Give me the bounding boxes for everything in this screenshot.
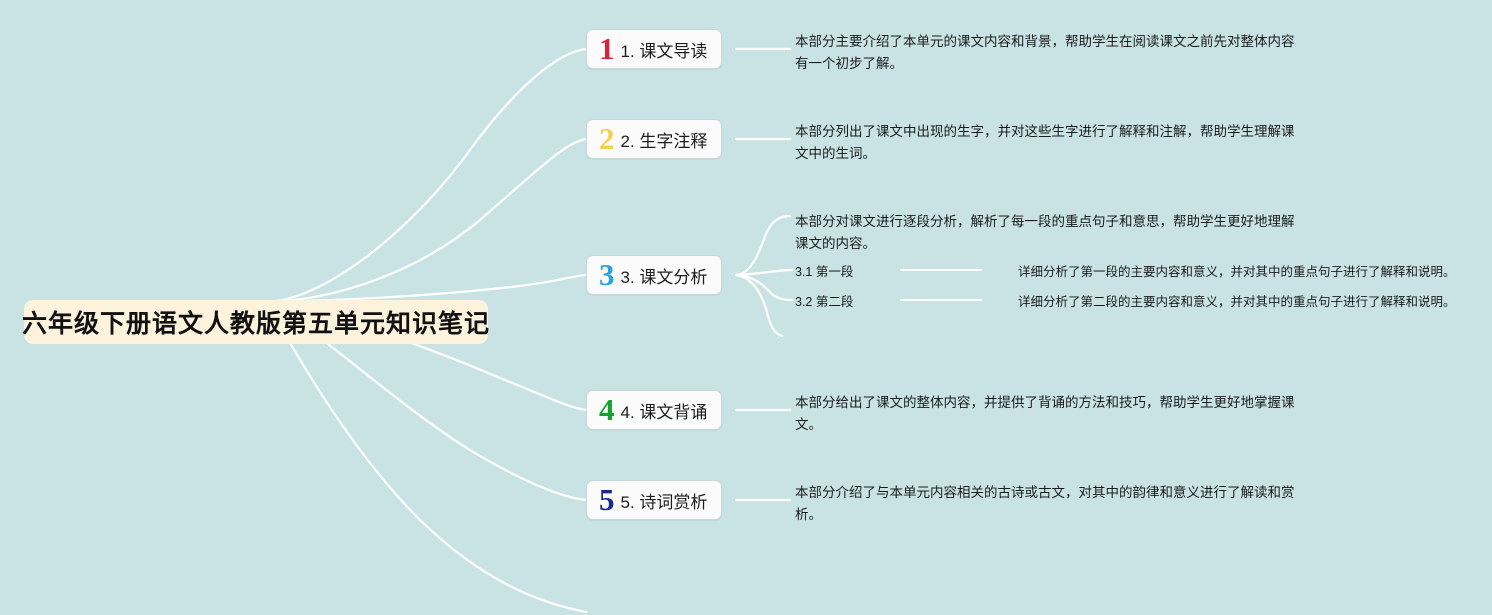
branch-node-3[interactable]: 3 3. 课文分析 — [586, 255, 722, 295]
link-branch-3-desc — [736, 216, 790, 275]
central-node-title: 六年级下册语文人教版第五单元知识笔记 — [22, 304, 490, 340]
branch-description-4: 本部分给出了课文的整体内容，并提供了背诵的方法和技巧，帮助学生更好地掌握课文。 — [795, 392, 1295, 436]
link-branch-3-sub-1 — [736, 270, 792, 275]
branch-node-1[interactable]: 1 1. 课文导读 — [586, 29, 722, 69]
sub-item-3-1-label: 3.1 第一段 — [795, 261, 900, 280]
branch-description-1: 本部分主要介绍了本单元的课文内容和背景，帮助学生在阅读课文之前先对整体内容有一个… — [795, 31, 1295, 75]
branch-node-2[interactable]: 2 2. 生字注释 — [586, 119, 722, 159]
sub-item-3-2-description: 详细分析了第二段的主要内容和意义，并对其中的重点句子进行了解释和说明。 — [1018, 291, 1456, 310]
sub-item-3-1-description: 详细分析了第一段的主要内容和意义，并对其中的重点句子进行了解释和说明。 — [1018, 261, 1456, 280]
branch-description-2: 本部分列出了课文中出现的生字，并对这些生字进行了解释和注解，帮助学生理解课文中的… — [795, 121, 1295, 165]
mindmap-canvas: 六年级下册语文人教版第五单元知识笔记 1 1. 课文导读 本部分主要介绍了本单元… — [0, 0, 1492, 615]
branch-node-5[interactable]: 5 5. 诗词赏析 — [586, 480, 722, 520]
branch-label-1: 1. 课文导读 — [621, 37, 708, 62]
sub-item-3-2-connector — [900, 299, 982, 301]
link-branch-3-extra — [736, 275, 782, 336]
branch-label-4: 4. 课文背诵 — [621, 398, 708, 423]
link-branch-3-sub-2 — [736, 275, 792, 300]
branch-number-1: 1 — [599, 33, 615, 64]
branch-number-3: 3 — [599, 259, 615, 290]
branch-description-3: 本部分对课文进行逐段分析，解析了每一段的重点句子和意思，帮助学生更好地理解课文的… — [795, 211, 1295, 255]
sub-item-3-1-connector — [900, 269, 982, 271]
branch-label-2: 2. 生字注释 — [621, 127, 708, 152]
branch-label-5: 5. 诗词赏析 — [621, 488, 708, 513]
link-root-branch-3 — [266, 275, 586, 302]
link-root-branch-2 — [266, 139, 586, 302]
branch-label-3: 3. 课文分析 — [621, 263, 708, 288]
branch-description-5: 本部分介绍了与本单元内容相关的古诗或古文，对其中的韵律和意义进行了解读和赏析。 — [795, 482, 1295, 526]
branch-number-2: 2 — [599, 123, 615, 154]
branch-node-4[interactable]: 4 4. 课文背诵 — [586, 390, 722, 430]
branch-number-4: 4 — [599, 394, 615, 425]
branch-number-5: 5 — [599, 484, 615, 515]
sub-item-3-2-label: 3.2 第二段 — [795, 291, 900, 310]
link-root-branch-1 — [266, 49, 586, 302]
link-root-trailing — [266, 302, 586, 612]
sub-item-3-1[interactable]: 3.1 第一段 详细分析了第一段的主要内容和意义，并对其中的重点句子进行了解释和… — [795, 261, 1456, 279]
central-node[interactable]: 六年级下册语文人教版第五单元知识笔记 — [24, 300, 488, 344]
sub-item-3-2[interactable]: 3.2 第二段 详细分析了第二段的主要内容和意义，并对其中的重点句子进行了解释和… — [795, 291, 1456, 309]
